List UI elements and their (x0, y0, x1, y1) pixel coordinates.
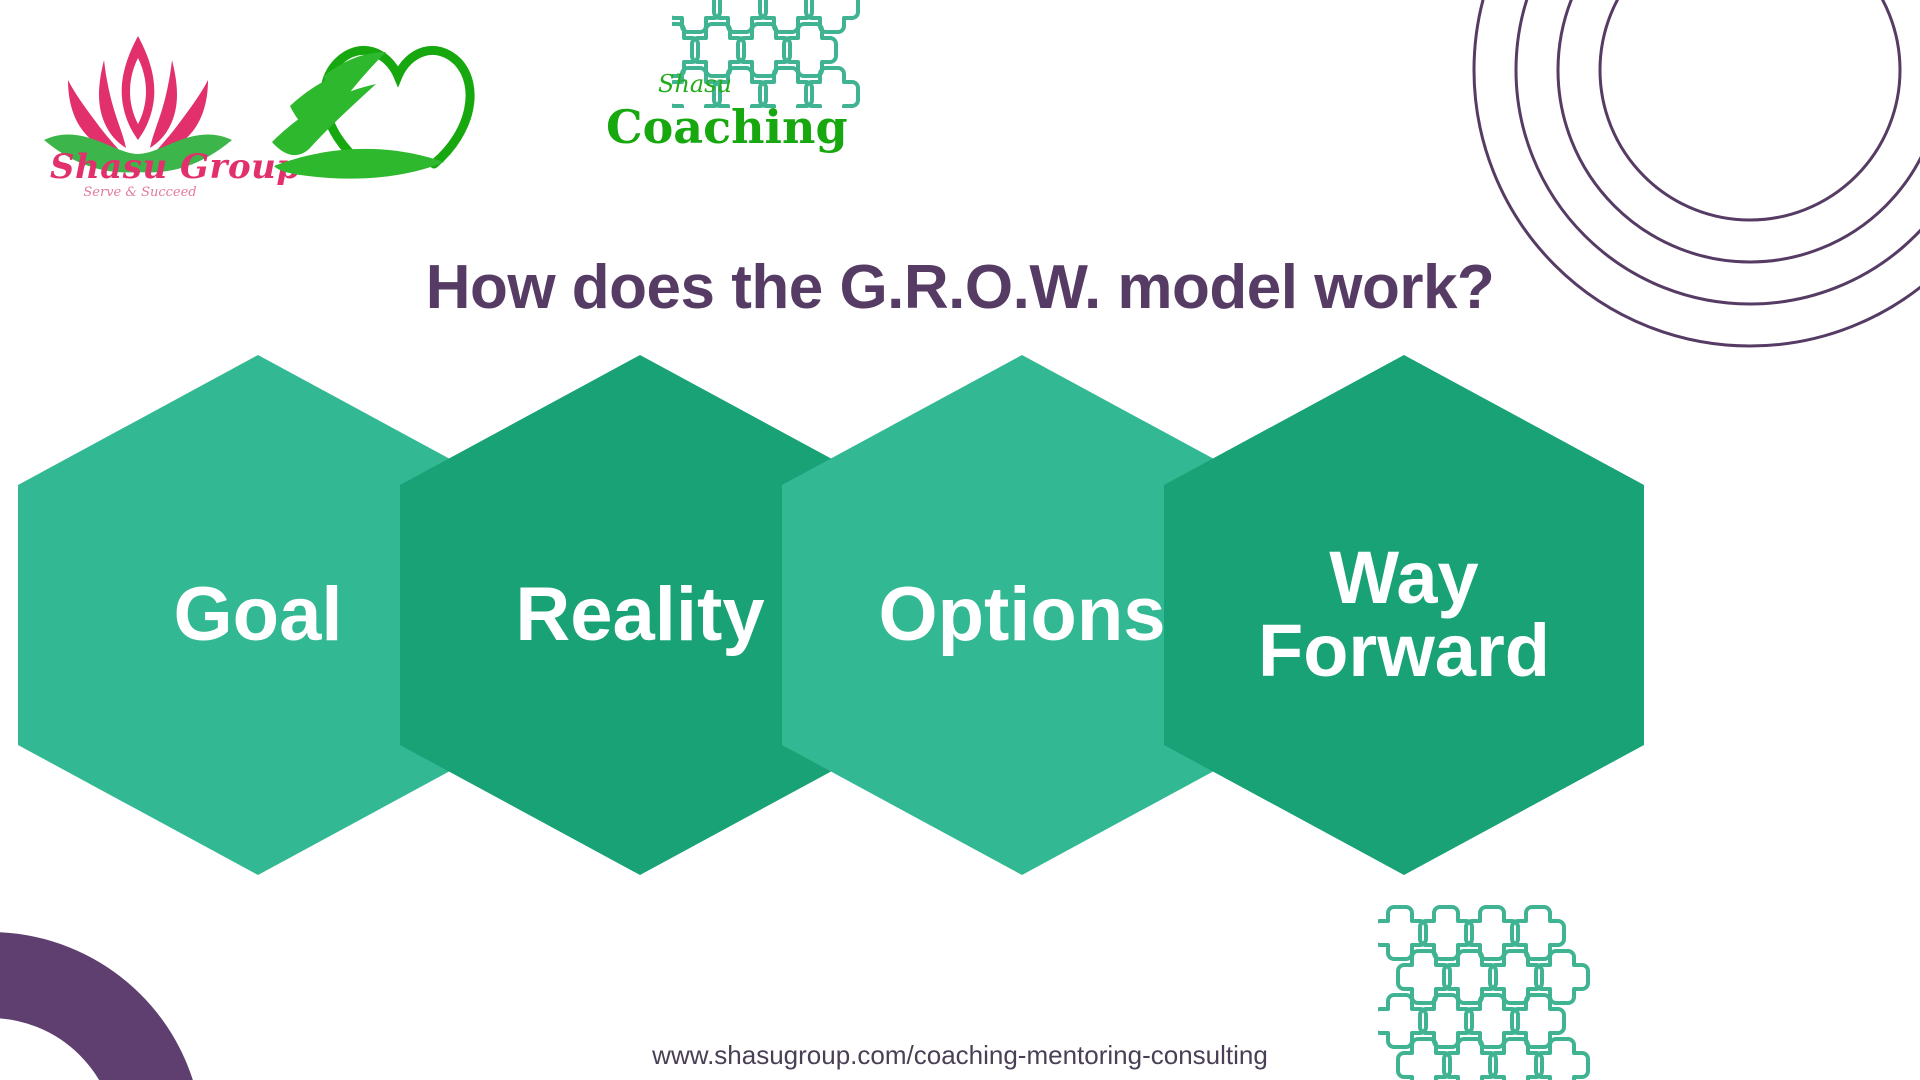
hexagon-label-goal: Goal (160, 578, 357, 652)
footer-url[interactable]: www.shasugroup.com/coaching-mentoring-co… (0, 1040, 1920, 1071)
shasu-coaching-wordmark: Coaching (606, 104, 848, 150)
shasu-group-wordmark: Shasu Group (50, 150, 230, 184)
grow-model-slide: Shasu Group Serve & Succeed Shasu Coachi… (0, 0, 1920, 1080)
shasu-coaching-logo[interactable]: Shasu Coaching (266, 14, 566, 189)
page-title: How does the G.R.O.W. model work? (0, 252, 1920, 323)
hexagon-way-forward[interactable]: Way Forward (1164, 355, 1644, 875)
hexagon-label-options: Options (864, 578, 1179, 652)
shasu-group-logo[interactable]: Shasu Group Serve & Succeed (28, 14, 248, 219)
hexagon-label-way-forward: Way Forward (1244, 542, 1564, 687)
shasu-coaching-subword: Shasu (658, 72, 732, 96)
grow-hexagon-row: Goal Reality Options Way Forward (0, 355, 1920, 875)
shasu-group-tagline: Serve & Succeed (50, 186, 230, 199)
logo-bar: Shasu Group Serve & Succeed Shasu Coachi… (28, 14, 566, 219)
hexagon-label-reality: Reality (501, 578, 778, 652)
heart-leaf-icon (266, 14, 566, 184)
